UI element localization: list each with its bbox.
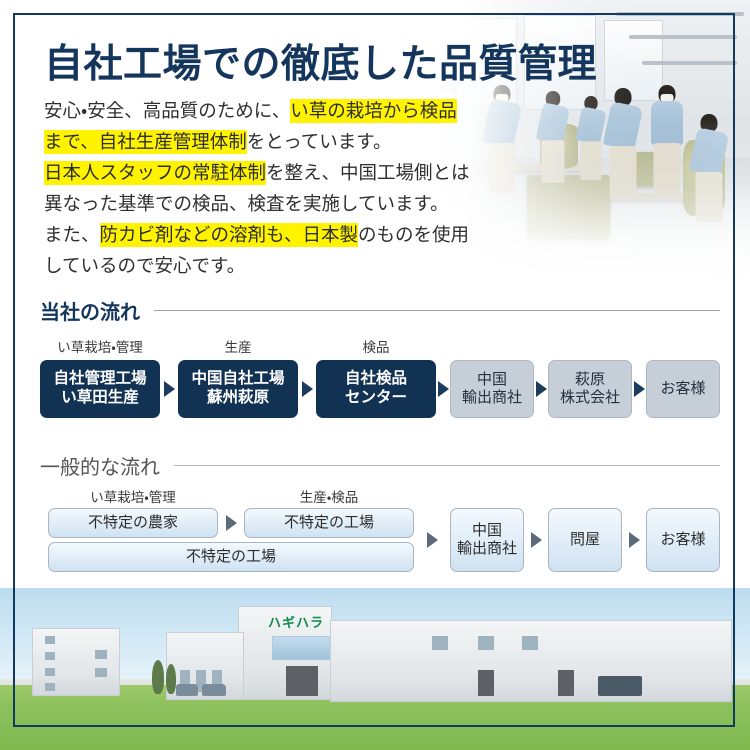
building-window	[95, 668, 107, 677]
our-flow-box-1: 自社管理工場い草田生産	[40, 360, 160, 418]
loading-door	[558, 670, 574, 696]
box-line: 問屋	[570, 531, 600, 549]
box-line: 萩原	[560, 371, 620, 389]
section-header-general-flow: 一般的な流れ	[40, 451, 720, 480]
section-title-our-flow: 当社の流れ	[40, 296, 140, 325]
building-window	[95, 650, 107, 659]
building-window	[478, 636, 494, 650]
building-window	[45, 668, 55, 676]
building-window	[432, 636, 448, 650]
flow-arrow-right-icon	[226, 515, 237, 531]
tree	[152, 660, 164, 694]
stage-label-2: 生産	[178, 336, 298, 356]
highlighted-text: 日本人スタッフの常駐体制	[44, 161, 266, 185]
delivery-truck	[598, 676, 642, 696]
stage-label-3: 検品	[316, 336, 436, 356]
body-text-run: しているので安心です。	[44, 255, 245, 276]
description-line: 日本人スタッフの常駐体制を整え、中国工場側とは	[44, 157, 474, 188]
section-header-our-flow: 当社の流れ	[40, 296, 720, 325]
parked-car	[202, 684, 226, 696]
box-line: お客様	[660, 380, 705, 398]
highlighted-text: い草の栽培から検品	[290, 99, 457, 123]
description-line: また、防カビ剤などの溶剤も、日本製のものを使用	[44, 219, 474, 250]
highlighted-text: 防カビ剤などの溶剤も、	[100, 223, 303, 247]
entrance-door	[286, 666, 318, 696]
general-flow-top-box-2: 不特定の工場	[244, 508, 414, 538]
company-sign: ハギハラ	[268, 612, 324, 631]
description-paragraph: 安心・安全、高品質のために、い草の栽培から検品まで、自社生産管理体制をとっていま…	[44, 95, 474, 281]
body-text-run: を整え、中国工場側とは	[266, 162, 470, 183]
box-line: お客様	[660, 531, 705, 549]
flow-arrow-right-icon	[531, 532, 542, 548]
box-line: 蘇州萩原	[191, 389, 284, 408]
box-line: 中国自社工場	[191, 370, 284, 389]
loading-door	[478, 670, 494, 696]
flow-arrow-right-icon	[629, 532, 640, 548]
general-stage-label-1: い草栽培・管理	[48, 486, 218, 506]
box-line: 輸出商社	[457, 540, 517, 558]
general-flow-right-box-2: 問屋	[548, 508, 622, 572]
warehouse-block	[330, 620, 732, 702]
body-text-run: をとっています。	[247, 131, 392, 152]
building-window	[45, 636, 55, 644]
box-line: 自社検品	[345, 370, 407, 389]
section-title-general-flow: 一般的な流れ	[40, 451, 160, 480]
description-line: しているので安心です。	[44, 250, 474, 281]
general-flow-top-box-1: 不特定の農家	[48, 508, 218, 538]
body-text-run: また、	[44, 224, 100, 245]
flow-arrow-right-icon	[427, 532, 438, 548]
infographic-canvas: 自社工場での徹底した品質管理 安心・安全、高品質のために、い草の栽培から検品まで…	[0, 0, 750, 750]
building-window	[45, 683, 55, 691]
factory-exterior-photo: ハギハラ	[0, 588, 750, 750]
highlighted-text: 自社生産管理体制	[99, 130, 247, 154]
highlighted-text: まで、	[44, 130, 99, 154]
flow-arrow-right-icon	[302, 381, 313, 397]
page-title: 自社工場での徹底した品質管理	[44, 33, 597, 89]
description-line: 安心・安全、高品質のために、い草の栽培から検品	[44, 95, 474, 126]
our-flow-box-5: 萩原株式会社	[548, 360, 632, 418]
tree	[166, 664, 176, 694]
building-window	[522, 636, 538, 650]
general-stage-label-2: 生産・検品	[244, 486, 414, 506]
box-line: 自社管理工場	[53, 370, 146, 389]
stage-label-1: い草栽培・管理	[40, 336, 160, 356]
general-flow-right-box-3: お客様	[646, 508, 720, 572]
box-line: 中国	[462, 371, 522, 389]
box-line: い草田生産	[53, 389, 146, 408]
description-line: 異なった基準での検品、検査を実施しています。	[44, 188, 474, 219]
parked-car	[176, 684, 198, 696]
our-flow-box-6: お客様	[646, 360, 720, 418]
flow-arrow-right-icon	[634, 381, 645, 397]
section-rule	[154, 310, 720, 311]
section-rule	[174, 465, 720, 466]
flow-arrow-right-icon	[536, 381, 547, 397]
flow-arrow-right-icon	[438, 381, 449, 397]
our-flow-box-2: 中国自社工場蘇州萩原	[178, 360, 298, 418]
our-flow-box-3: 自社検品センター	[316, 360, 436, 418]
general-flow-right-box-1: 中国輸出商社	[450, 508, 524, 572]
description-line: まで、自社生産管理体制をとっています。	[44, 126, 474, 157]
body-text-run: のものを使用	[358, 224, 469, 245]
body-text-run: 異なった基準での検品、検査を実施しています。	[44, 193, 449, 214]
body-text-run: 安心・安全、高品質のために、	[44, 100, 290, 121]
our-flow-box-4: 中国輸出商社	[450, 360, 534, 418]
flow-arrow-right-icon	[164, 381, 175, 397]
our-flow-diagram: い草栽培・管理生産検品自社管理工場い草田生産中国自社工場蘇州萩原自社検品センター…	[40, 330, 720, 422]
box-line: 中国	[457, 522, 517, 540]
general-flow-diagram: い草栽培・管理生産・検品不特定の農家不特定の工場不特定の工場中国輸出商社問屋お客…	[40, 486, 720, 572]
box-line: 輸出商社	[462, 389, 522, 407]
box-line: 株式会社	[560, 389, 620, 407]
box-line: センター	[345, 389, 407, 408]
highlighted-text: 日本製	[302, 223, 358, 247]
building-window	[45, 652, 55, 660]
general-flow-wide-box: 不特定の工場	[48, 542, 414, 572]
